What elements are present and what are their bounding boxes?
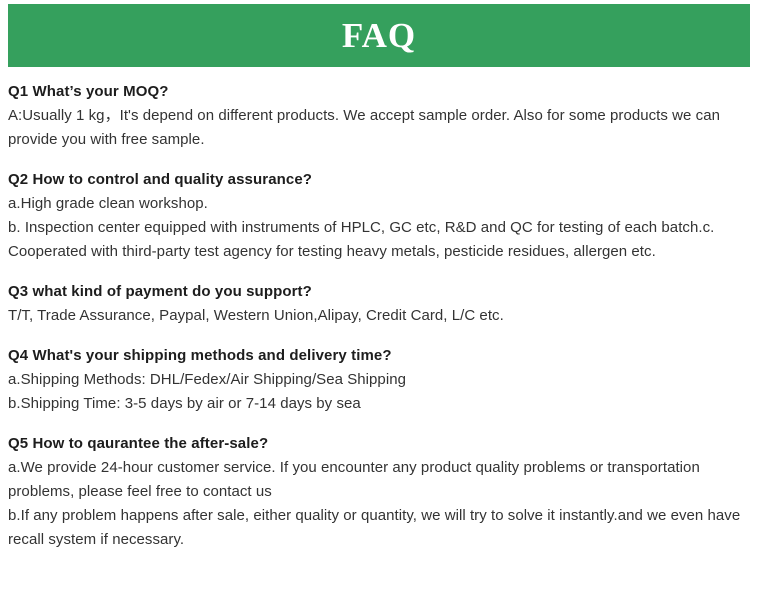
faq-item: Q3 what kind of payment do you support? …	[8, 281, 745, 328]
faq-question: Q4 What's your shipping methods and deli…	[8, 345, 745, 366]
faq-answer: a.Shipping Methods: DHL/Fedex/Air Shippi…	[8, 368, 745, 416]
faq-item: Q1 What’s your MOQ? A:Usually 1 kg，It's …	[8, 81, 745, 152]
faq-answer: a.We provide 24-hour customer service. I…	[8, 456, 745, 552]
faq-answer: A:Usually 1 kg，It's depend on different …	[8, 104, 745, 152]
faq-answer: T/T, Trade Assurance, Paypal, Western Un…	[8, 304, 745, 328]
faq-question: Q1 What’s your MOQ?	[8, 81, 745, 102]
faq-question: Q2 How to control and quality assurance?	[8, 169, 745, 190]
faq-item: Q2 How to control and quality assurance?…	[8, 169, 745, 264]
faq-banner-title: FAQ	[342, 18, 416, 53]
faq-item: Q4 What's your shipping methods and deli…	[8, 345, 745, 416]
faq-item: Q5 How to qaurantee the after-sale? a.We…	[8, 433, 745, 552]
faq-answer: a.High grade clean workshop. b. Inspecti…	[8, 192, 745, 264]
faq-question: Q5 How to qaurantee the after-sale?	[8, 433, 745, 454]
faq-page: FAQ Q1 What’s your MOQ? A:Usually 1 kg，I…	[0, 4, 757, 616]
faq-banner: FAQ	[8, 4, 750, 67]
faq-list: Q1 What’s your MOQ? A:Usually 1 kg，It's …	[0, 81, 757, 552]
faq-question: Q3 what kind of payment do you support?	[8, 281, 745, 302]
